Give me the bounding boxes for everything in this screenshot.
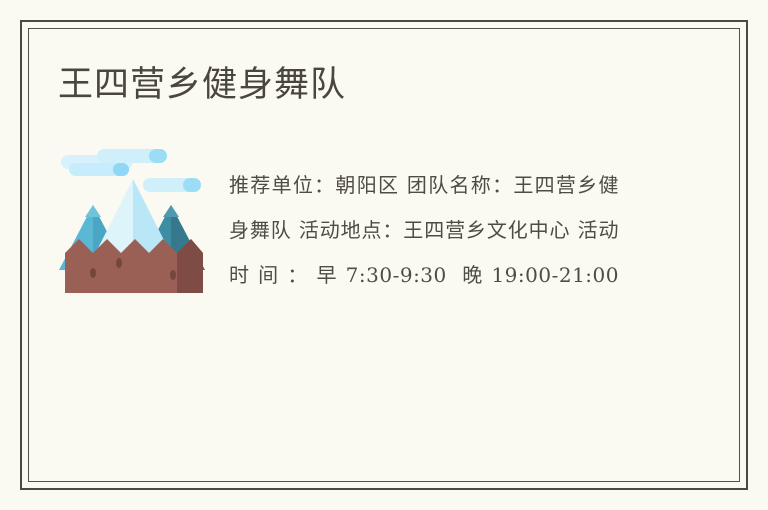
team-info-card: 王四营乡健身舞队 [0, 0, 768, 510]
team-details-text: 推荐单位：朝阳区 团队名称：王四营乡健身舞队 活动地点：王四营乡文化中心 活动时… [229, 163, 619, 343]
page-title: 王四营乡健身舞队 [58, 64, 346, 106]
snowy-mountain-illustration [57, 145, 209, 297]
